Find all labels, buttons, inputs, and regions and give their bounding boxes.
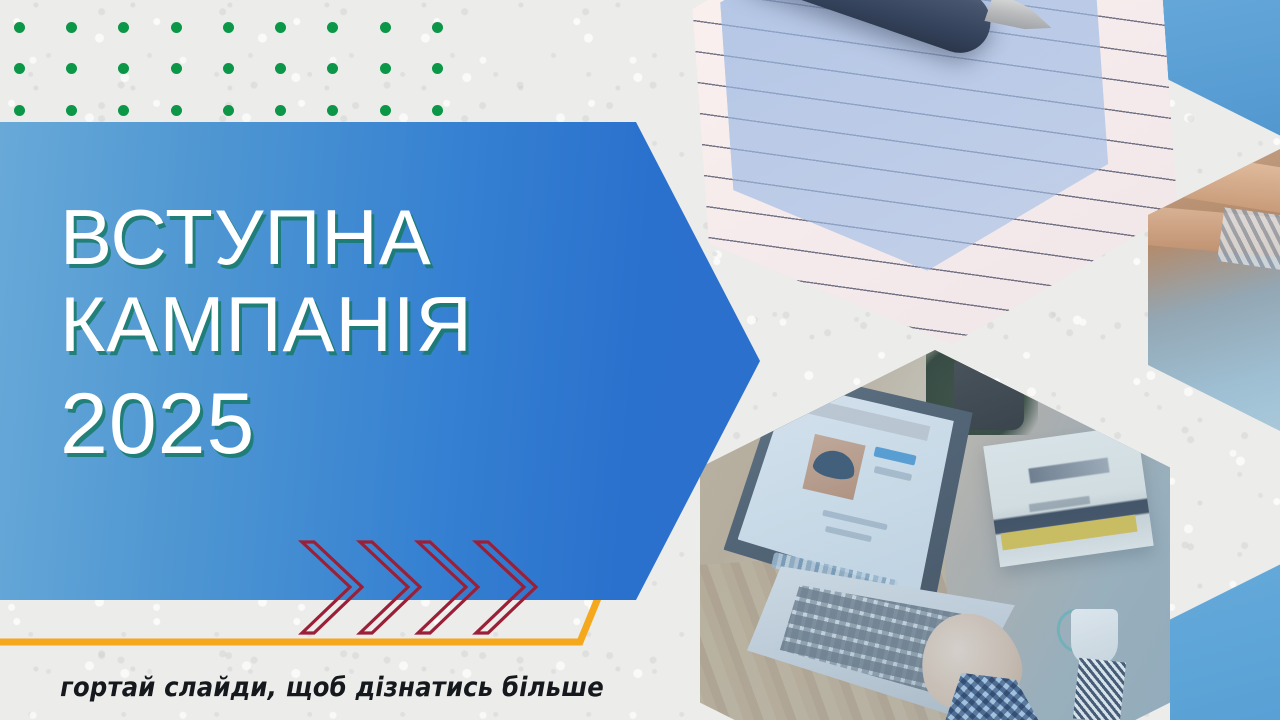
right-chevron-arrows [296, 534, 556, 644]
grid-dot [14, 63, 25, 74]
page-title-line-1: ВСТУПНА [60, 196, 620, 279]
grid-dot [223, 105, 234, 116]
grid-dot [223, 63, 234, 74]
grid-dot [327, 63, 338, 74]
grid-dot [223, 22, 234, 33]
grid-dot [118, 22, 129, 33]
slide-subtitle: гортай слайди, щоб дізнатись більше [0, 672, 1280, 703]
grid-dot [275, 22, 286, 33]
slide-title-block: ВСТУПНА КАМПАНІЯ 2025 [60, 196, 620, 470]
grid-dot [118, 105, 129, 116]
grid-dot [432, 22, 443, 33]
hex-photo-laptop [700, 350, 1170, 720]
grid-dot [380, 22, 391, 33]
grid-dot [66, 105, 77, 116]
page-title-line-2: КАМПАНІЯ [60, 283, 620, 366]
hex-solid-top-right [1160, 0, 1280, 138]
grid-dot [118, 63, 129, 74]
grid-dot [380, 105, 391, 116]
grid-dot [275, 63, 286, 74]
grid-dot [14, 105, 25, 116]
grid-dot [171, 22, 182, 33]
coffee-mug [1071, 609, 1118, 665]
chevron-icon [302, 542, 362, 633]
grid-dot [14, 22, 25, 33]
grid-dot [275, 105, 286, 116]
chevron-icon [360, 542, 420, 633]
green-dot-grid [14, 22, 484, 146]
presentation-slide: ВСТУПНА КАМПАНІЯ 2025 гортай слайди, щоб… [0, 0, 1280, 720]
page-title-year: 2025 [60, 379, 620, 469]
grid-dot [66, 22, 77, 33]
grid-dot [171, 105, 182, 116]
grid-dot [432, 63, 443, 74]
grid-dot [327, 22, 338, 33]
grid-dot [380, 63, 391, 74]
grid-dot [171, 63, 182, 74]
grid-dot [327, 105, 338, 116]
grid-dot [66, 63, 77, 74]
chevron-icon [418, 542, 478, 633]
hex-photo-notepad [684, 0, 1186, 361]
hand-sleeve [1217, 207, 1280, 282]
chevron-icon [476, 542, 536, 633]
grid-dot [432, 105, 443, 116]
